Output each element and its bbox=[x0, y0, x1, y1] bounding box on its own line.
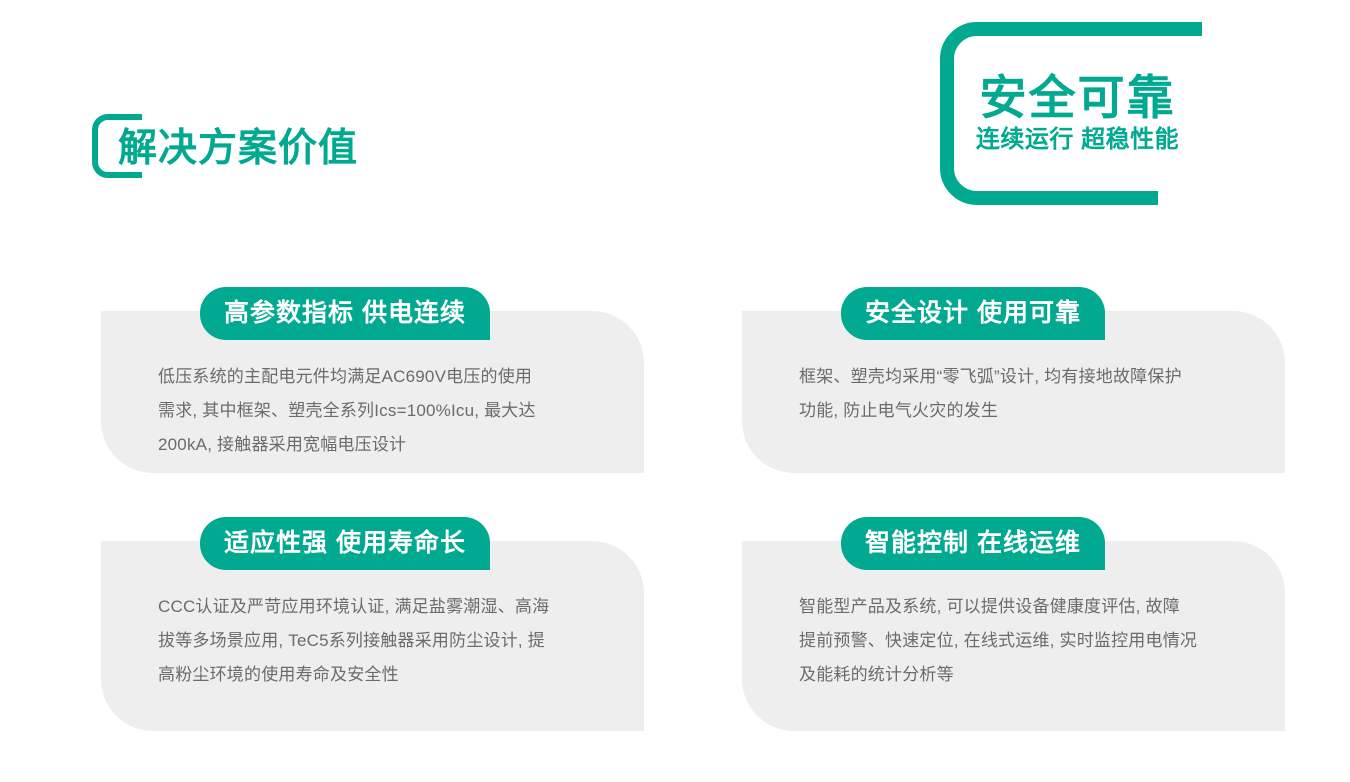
card-row-bottom: 适应性强 使用寿命长 CCC认证及严苛应用环境认证, 满足盐雾潮湿、高海 拔等多… bbox=[0, 517, 1350, 692]
card-row-top: 高参数指标 供电连续 低压系统的主配电元件均满足AC690V电压的使用 需求, … bbox=[0, 287, 1350, 462]
card-body-line: 拔等多场景应用, TeC5系列接触器采用防尘设计, 提 bbox=[158, 624, 608, 658]
card-body: CCC认证及严苛应用环境认证, 满足盐雾潮湿、高海 拔等多场景应用, TeC5系… bbox=[158, 570, 608, 692]
emblem-title: 安全可靠 bbox=[980, 73, 1176, 122]
page-heading: 解决方案价值 bbox=[92, 112, 358, 184]
card-body-line: 200kA, 接触器采用宽幅电压设计 bbox=[158, 428, 608, 462]
page-title: 解决方案价值 bbox=[118, 129, 358, 168]
card-body-line: 需求, 其中框架、塑壳全系列Ics=100%Icu, 最大达 bbox=[158, 394, 608, 428]
card-body: 框架、塑壳均采用“零飞弧”设计, 均有接地故障保护 功能, 防止电气火灾的发生 bbox=[799, 340, 1249, 428]
card-badge-label: 适应性强 使用寿命长 bbox=[224, 531, 466, 556]
card-badge: 安全设计 使用可靠 bbox=[841, 287, 1105, 340]
card-badge: 适应性强 使用寿命长 bbox=[200, 517, 490, 570]
card-body-line: 高粉尘环境的使用寿命及安全性 bbox=[158, 658, 608, 692]
card-badge-label: 安全设计 使用可靠 bbox=[865, 301, 1081, 326]
card-body: 智能型产品及系统, 可以提供设备健康度评估, 故障 提前预警、快速定位, 在线式… bbox=[799, 570, 1249, 692]
value-card: 智能控制 在线运维 智能型产品及系统, 可以提供设备健康度评估, 故障 提前预警… bbox=[742, 517, 1285, 692]
card-badge-label: 高参数指标 供电连续 bbox=[224, 301, 466, 326]
emblem-text-block: 安全可靠 连续运行 超稳性能 bbox=[940, 22, 1215, 205]
emblem-subtitle: 连续运行 超稳性能 bbox=[976, 127, 1179, 153]
card-body-line: 功能, 防止电气火灾的发生 bbox=[799, 394, 1249, 428]
value-card: 安全设计 使用可靠 框架、塑壳均采用“零飞弧”设计, 均有接地故障保护 功能, … bbox=[742, 287, 1285, 462]
card-body-line: 智能型产品及系统, 可以提供设备健康度评估, 故障 bbox=[799, 590, 1249, 624]
value-card: 适应性强 使用寿命长 CCC认证及严苛应用环境认证, 满足盐雾潮湿、高海 拔等多… bbox=[101, 517, 644, 692]
value-cards-grid: 高参数指标 供电连续 低压系统的主配电元件均满足AC690V电压的使用 需求, … bbox=[0, 287, 1350, 692]
emblem: 安全可靠 连续运行 超稳性能 bbox=[940, 22, 1215, 205]
value-card: 高参数指标 供电连续 低压系统的主配电元件均满足AC690V电压的使用 需求, … bbox=[101, 287, 644, 462]
card-body: 低压系统的主配电元件均满足AC690V电压的使用 需求, 其中框架、塑壳全系列I… bbox=[158, 340, 608, 462]
card-body-line: 低压系统的主配电元件均满足AC690V电压的使用 bbox=[158, 360, 608, 394]
card-body-line: 框架、塑壳均采用“零飞弧”设计, 均有接地故障保护 bbox=[799, 360, 1249, 394]
card-body-line: 及能耗的统计分析等 bbox=[799, 658, 1249, 692]
card-body-line: CCC认证及严苛应用环境认证, 满足盐雾潮湿、高海 bbox=[158, 590, 608, 624]
card-badge-label: 智能控制 在线运维 bbox=[865, 531, 1081, 556]
card-badge: 智能控制 在线运维 bbox=[841, 517, 1105, 570]
card-body-line: 提前预警、快速定位, 在线式运维, 实时监控用电情况 bbox=[799, 624, 1249, 658]
card-badge: 高参数指标 供电连续 bbox=[200, 287, 490, 340]
